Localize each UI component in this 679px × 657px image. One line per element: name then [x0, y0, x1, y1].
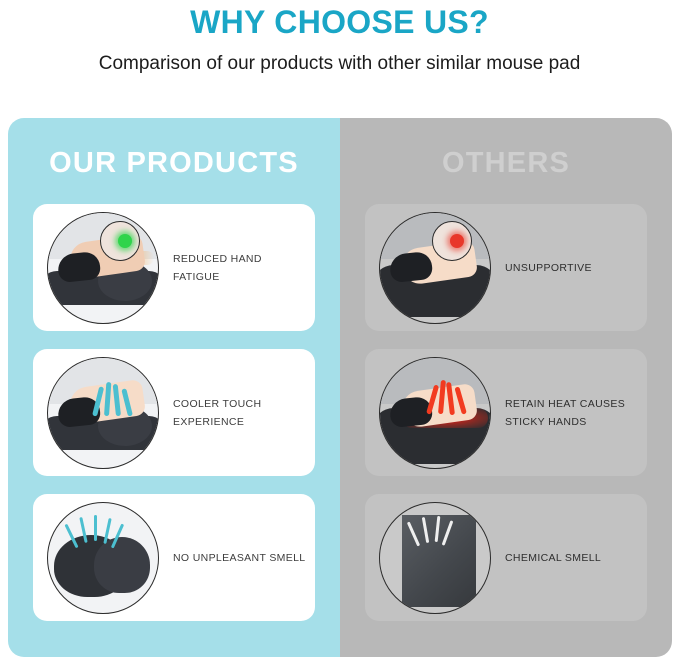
- hand-on-mousepad-cooling-icon: [47, 357, 159, 469]
- feature-card-label: REDUCED HAND FATIGUE: [159, 250, 315, 286]
- hand-on-pad-heat-icon: [379, 357, 491, 469]
- others-card-list: UNSUPPORTIVE RETAIN HEAT CAUSES STICKY H…: [340, 204, 672, 621]
- pressure-indicator-inset: [432, 221, 472, 261]
- feature-card-cooler-touch-experience[interactable]: COOLER TOUCH EXPERIENCE: [33, 349, 315, 476]
- page-header: WHY CHOOSE US? Comparison of our product…: [0, 0, 679, 78]
- comparison-panel: OUR PRODUCTS REDUCED HAND FATIGUE: [8, 118, 672, 657]
- column-our-products: OUR PRODUCTS REDUCED HAND FATIGUE: [8, 118, 340, 657]
- feature-card-label: COOLER TOUCH EXPERIENCE: [159, 395, 315, 431]
- drawback-card-label: UNSUPPORTIVE: [491, 259, 600, 277]
- teal-wisp-icon: [94, 515, 97, 541]
- drawback-card-chemical-smell[interactable]: CHEMICAL SMELL: [365, 494, 647, 621]
- page-title: WHY CHOOSE US?: [0, 2, 679, 42]
- feature-card-label: NO UNPLEASANT SMELL: [159, 549, 314, 567]
- hand-on-flat-pad-pressure-icon: [379, 212, 491, 324]
- column-others: OTHERS UNSUPPORTIVE: [340, 118, 672, 657]
- column-heading-others: OTHERS: [340, 118, 672, 204]
- feature-card-reduced-hand-fatigue[interactable]: REDUCED HAND FATIGUE: [33, 204, 315, 331]
- mousepad-odor-free-icon: [47, 502, 159, 614]
- comfort-indicator-inset: [100, 221, 140, 261]
- our-products-card-list: REDUCED HAND FATIGUE COOLER TOUCH EXPERI…: [8, 204, 340, 621]
- drawback-card-label: CHEMICAL SMELL: [491, 549, 609, 567]
- green-glow-icon: [118, 234, 132, 248]
- drawback-card-retain-heat[interactable]: RETAIN HEAT CAUSES STICKY HANDS: [365, 349, 647, 476]
- drawback-card-unsupportive[interactable]: UNSUPPORTIVE: [365, 204, 647, 331]
- page-subtitle: Comparison of our products with other si…: [0, 50, 679, 78]
- column-heading-our-products: OUR PRODUCTS: [8, 118, 340, 204]
- hand-on-mousepad-comfort-icon: [47, 212, 159, 324]
- drawback-card-label: RETAIN HEAT CAUSES STICKY HANDS: [491, 395, 647, 431]
- red-glow-icon: [450, 234, 464, 248]
- feature-card-no-unpleasant-smell[interactable]: NO UNPLEASANT SMELL: [33, 494, 315, 621]
- foam-sheet-fumes-icon: [379, 502, 491, 614]
